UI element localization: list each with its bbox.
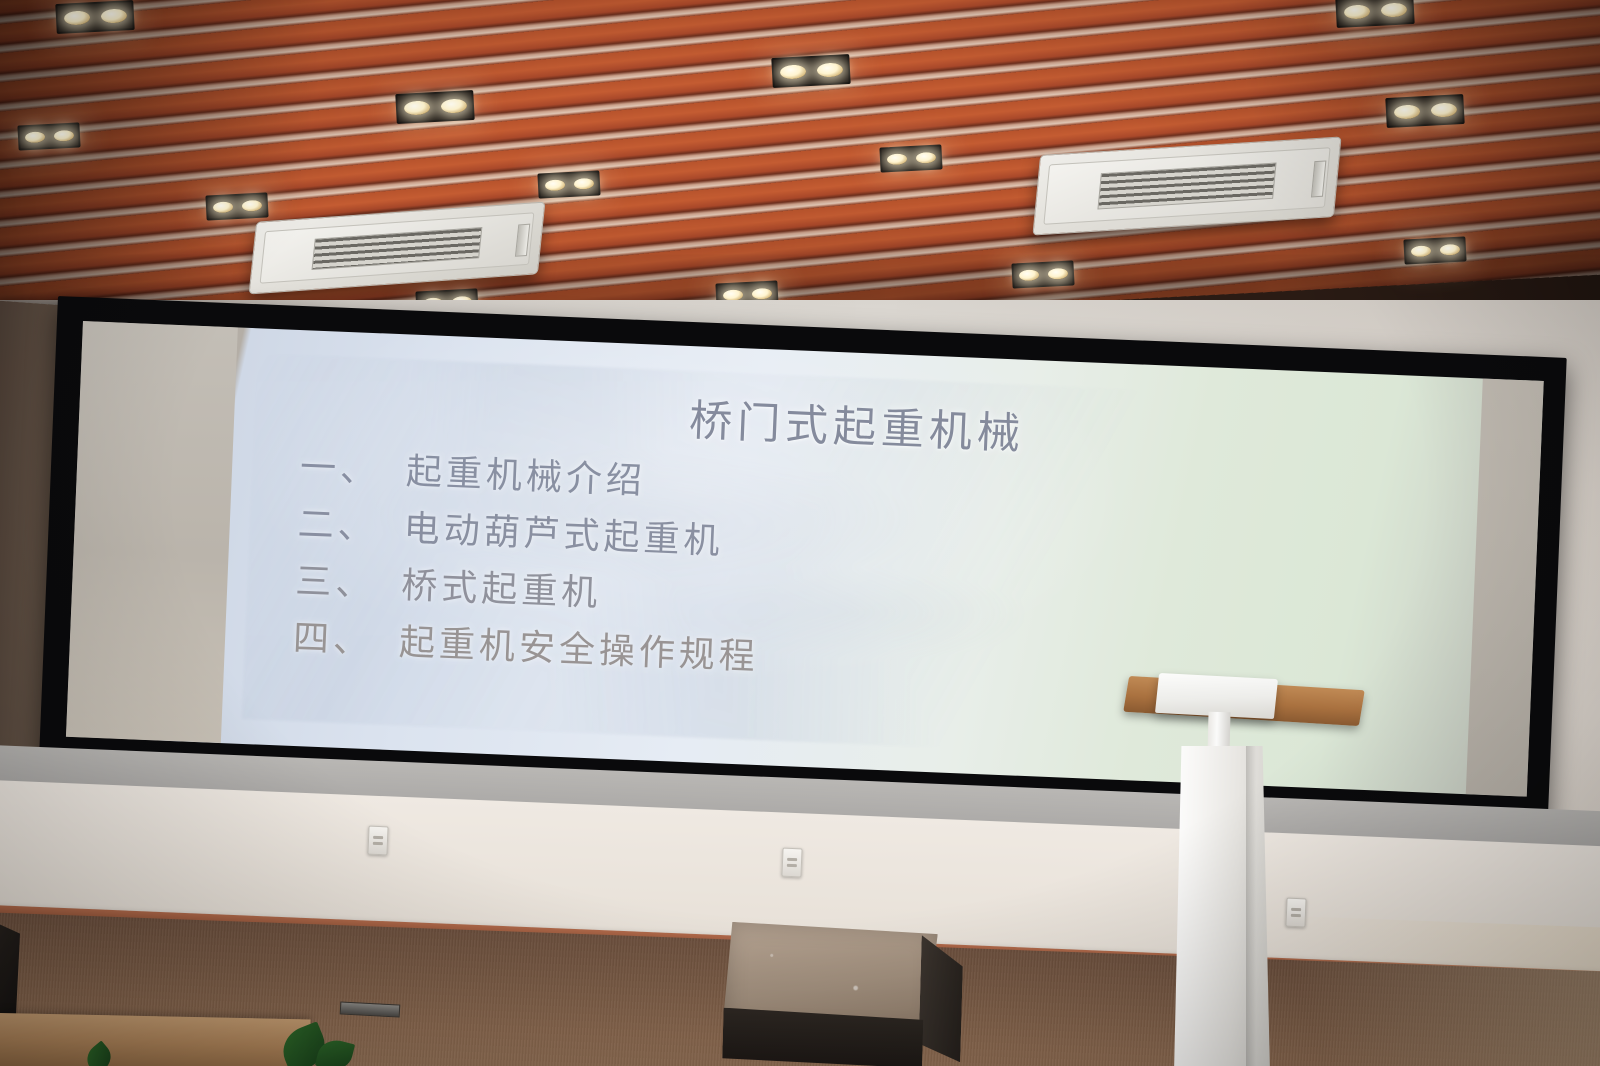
power-outlet-icon[interactable]	[367, 826, 388, 856]
spotlight-icon	[879, 144, 942, 172]
lamp-bulb	[63, 10, 90, 25]
lamp-bulb	[1410, 245, 1431, 257]
lamp-bulb	[1343, 4, 1370, 19]
list-item-number: 一、	[299, 447, 381, 491]
slide-content: 桥门式起重机械 一、起重机械介绍 二、电动葫芦式起重机 三、桥式起重机 四、起重…	[221, 327, 1483, 794]
foreground-table	[0, 1013, 311, 1066]
spotlight-icon	[55, 0, 134, 34]
lectern-body[interactable]	[1170, 746, 1274, 1066]
list-item-number: 二、	[297, 504, 379, 548]
list-item-text: 桥式起重机	[401, 566, 603, 615]
spotlight-icon	[17, 122, 80, 150]
screen-surface: 桥门式起重机械 一、起重机械介绍 二、电动葫芦式起重机 三、桥式起重机 四、起重…	[66, 321, 1544, 797]
lamp-bulb	[1047, 268, 1068, 280]
outlet-slot	[373, 842, 383, 845]
lamp-bulb	[751, 288, 772, 300]
lamp-bulb	[915, 152, 936, 164]
lamp-bulb	[24, 131, 45, 143]
lamp-bulb	[816, 62, 843, 77]
screen-unlit-left	[66, 321, 238, 743]
lamp-bulb	[1018, 269, 1039, 281]
lamp-bulb	[403, 100, 430, 115]
spotlight-icon	[395, 90, 474, 124]
lamp-bulb	[53, 130, 74, 142]
power-outlet-icon[interactable]	[781, 848, 802, 878]
lamp-bulb	[241, 200, 262, 212]
spotlight-icon	[1335, 0, 1414, 28]
outlet-slot	[1291, 908, 1301, 911]
spotlight-icon	[1385, 94, 1464, 128]
spotlight-icon	[537, 170, 600, 198]
spotlight-icon	[1011, 260, 1074, 288]
outlet-slot	[787, 858, 797, 861]
outlet-slot	[373, 836, 383, 839]
lamp-bulb	[100, 8, 127, 23]
list-item-text: 起重机安全操作规程	[398, 623, 759, 679]
lamp-bulb	[440, 98, 467, 113]
cabinet-side	[918, 935, 964, 1062]
lamp-bulb	[1430, 102, 1457, 117]
granite-top-cabinet	[722, 922, 964, 1066]
list-item-number: 三、	[295, 561, 377, 605]
lamp-bulb	[886, 153, 907, 165]
ac-grille	[311, 226, 482, 269]
ac-panel	[260, 212, 535, 283]
outlet-slot	[787, 864, 797, 867]
spotlight-icon	[1403, 236, 1466, 264]
lamp-bulb	[1380, 2, 1407, 17]
lamp-bulb	[1439, 244, 1460, 256]
list-item-text: 电动葫芦式起重机	[403, 509, 724, 563]
lamp-bulb	[1393, 104, 1420, 119]
lamp-bulb	[544, 179, 565, 191]
list-item-number: 四、	[292, 618, 374, 662]
lamp-bulb	[212, 201, 233, 213]
projection-screen[interactable]: 桥门式起重机械 一、起重机械介绍 二、电动葫芦式起重机 三、桥式起重机 四、起重…	[39, 296, 1567, 828]
lamp-bulb	[573, 178, 594, 190]
list-item-text: 起重机械介绍	[405, 452, 646, 503]
lamp-bulb	[779, 64, 806, 79]
ac-grille	[1098, 163, 1277, 210]
lecture-hall-photo: 桥门式起重机械 一、起重机械介绍 二、电动葫芦式起重机 三、桥式起重机 四、起重…	[0, 0, 1600, 1066]
ac-panel	[1043, 147, 1330, 225]
spotlight-icon	[205, 192, 268, 220]
spotlight-icon	[771, 54, 850, 88]
lectern-edge-shadow	[1246, 746, 1256, 1066]
